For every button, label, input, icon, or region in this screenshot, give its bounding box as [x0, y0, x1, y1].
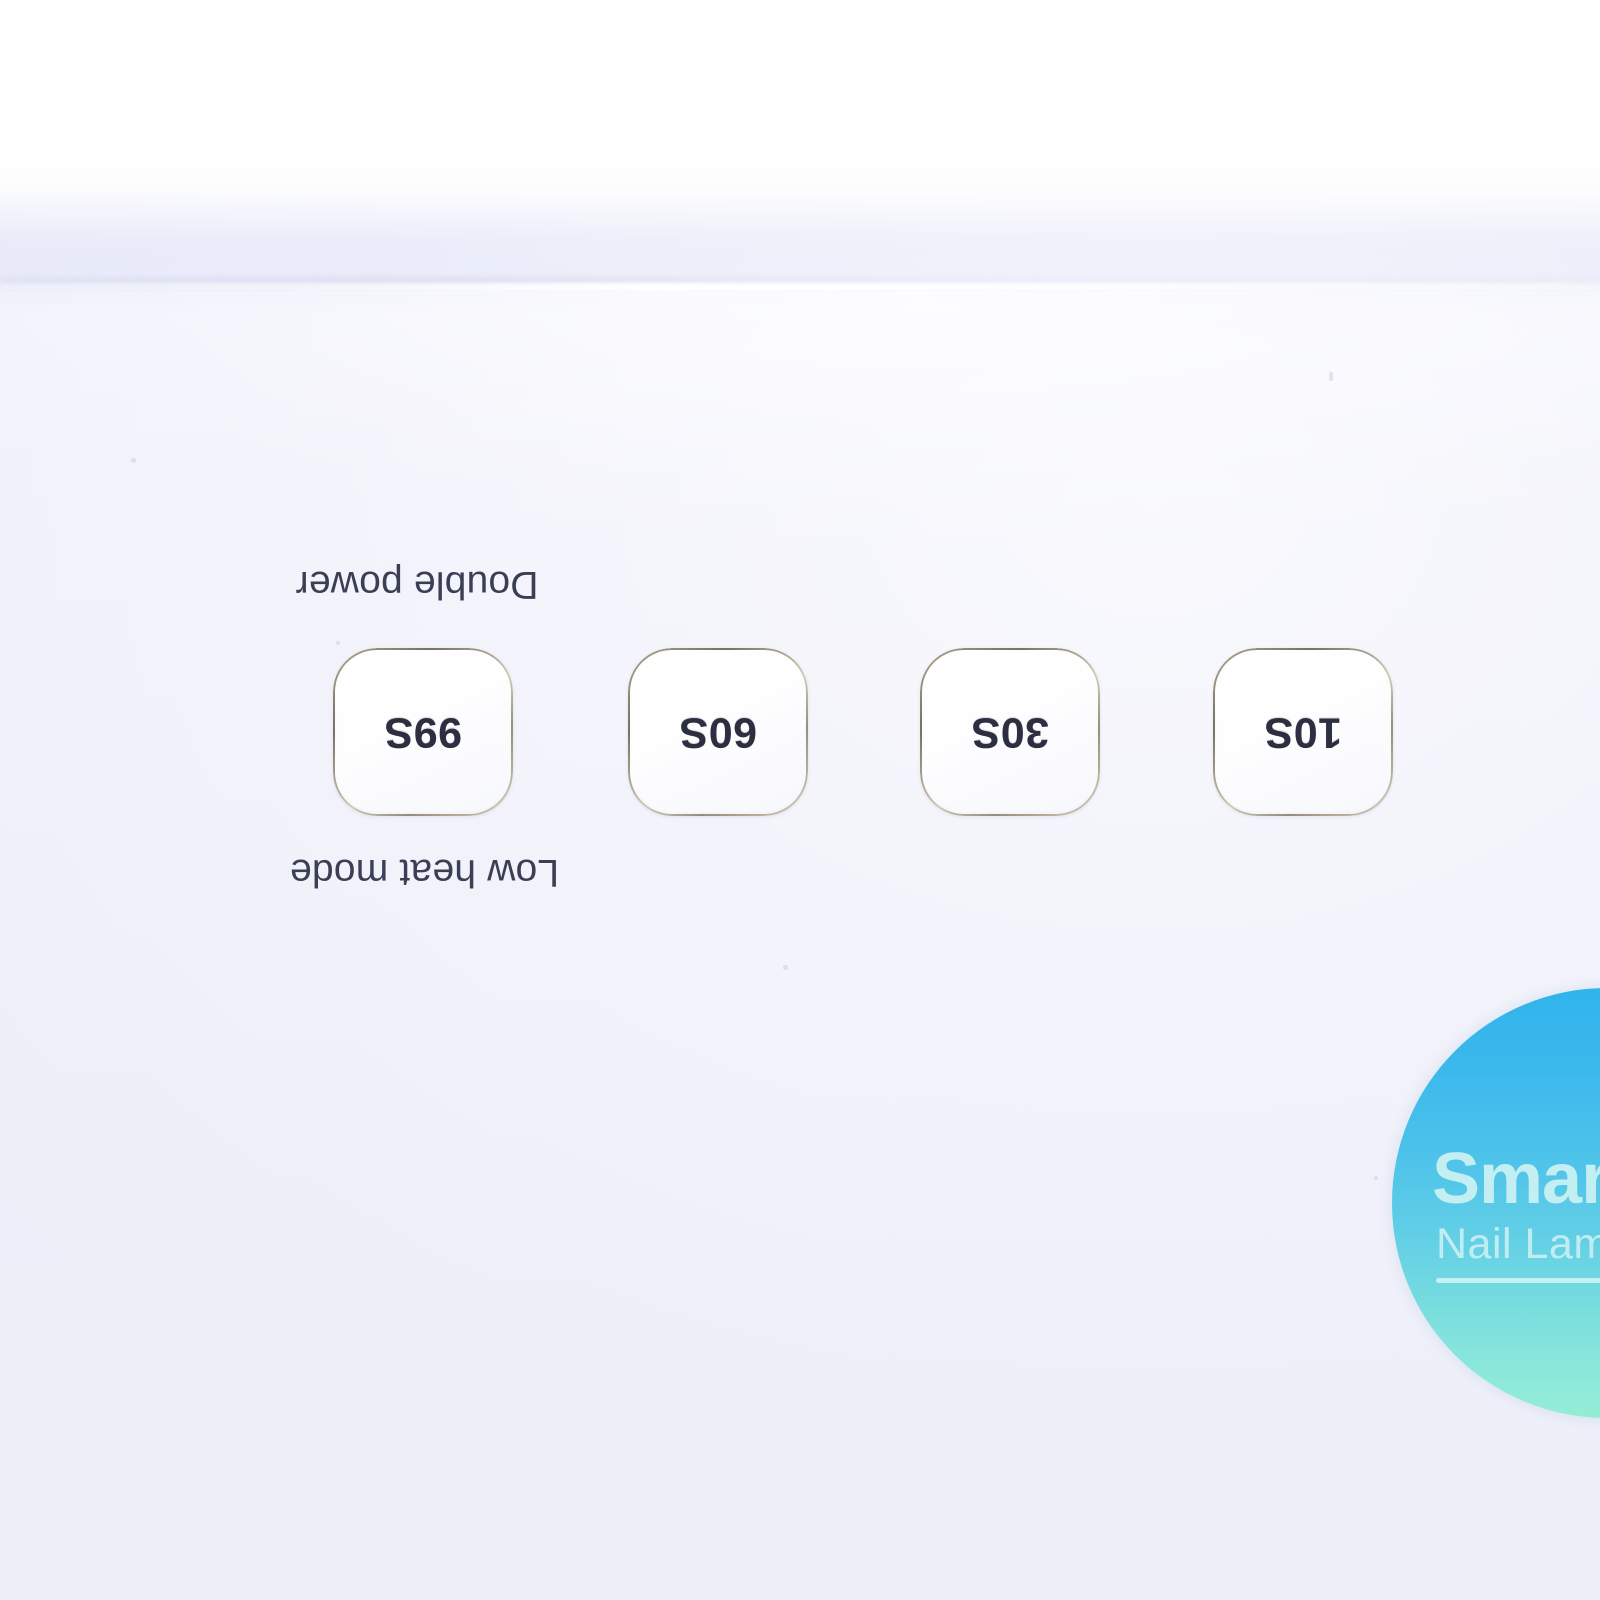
dust-speck: [783, 965, 788, 970]
timer-button-60s[interactable]: 60S: [628, 648, 808, 816]
timer-button-60s-label: 60S: [628, 708, 808, 757]
product-photo-canvas: Double power Low heat mode 99S 60S 30S 1…: [0, 0, 1600, 1600]
brand-sticker: Smart Nail Lamp: [1392, 988, 1600, 1418]
timer-button-30s[interactable]: 30S: [920, 648, 1100, 816]
photo-backdrop: [0, 0, 1600, 200]
brand-subtitle: Nail Lamp: [1436, 1220, 1600, 1269]
dust-speck: [1329, 372, 1333, 381]
dust-speck: [336, 641, 340, 645]
device-edge-highlight: [0, 283, 1600, 292]
dust-speck: [1374, 1176, 1378, 1180]
brand-underline-rule: [1436, 1278, 1600, 1283]
timer-button-30s-label: 30S: [920, 708, 1100, 757]
brand-title: Smart: [1432, 1138, 1600, 1220]
dust-speck: [131, 458, 136, 463]
label-low-heat-mode: Low heat mode: [266, 849, 583, 895]
timer-button-10s-label: 10S: [1213, 708, 1393, 757]
timer-button-10s[interactable]: 10S: [1213, 648, 1393, 816]
label-double-power: Double power: [271, 561, 563, 607]
timer-button-99s[interactable]: 99S: [333, 648, 513, 816]
timer-button-99s-label: 99S: [333, 708, 513, 757]
device-body-surface: [0, 192, 1600, 1600]
brand-sticker-inner: Smart Nail Lamp: [1392, 988, 1600, 1418]
